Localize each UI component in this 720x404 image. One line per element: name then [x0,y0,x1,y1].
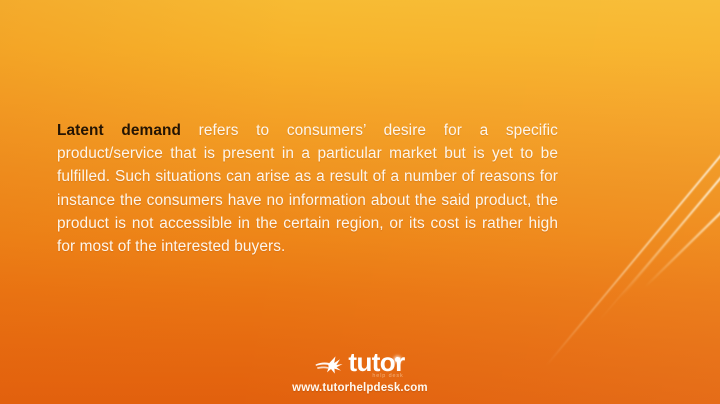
definition-slide: Latent demand refers to consumers’ desir… [0,0,720,404]
term-label: Latent demand [57,122,181,139]
website-url[interactable]: www.tutorhelpdesk.com [0,382,720,394]
tutor-bird-icon [315,353,345,375]
sparkle-dot-icon [395,357,400,362]
definition-paragraph: Latent demand refers to consumers’ desir… [57,119,558,258]
tutor-wordmark: tutor help desk [348,348,404,379]
tutor-logo[interactable]: tutor help desk [0,349,720,379]
definition-text: refers to consumers’ desire for a specif… [57,122,558,255]
wordmark-text: tutor [348,349,404,375]
footer-brand: tutor help desk www.tutorhelpdesk.com [0,349,720,394]
